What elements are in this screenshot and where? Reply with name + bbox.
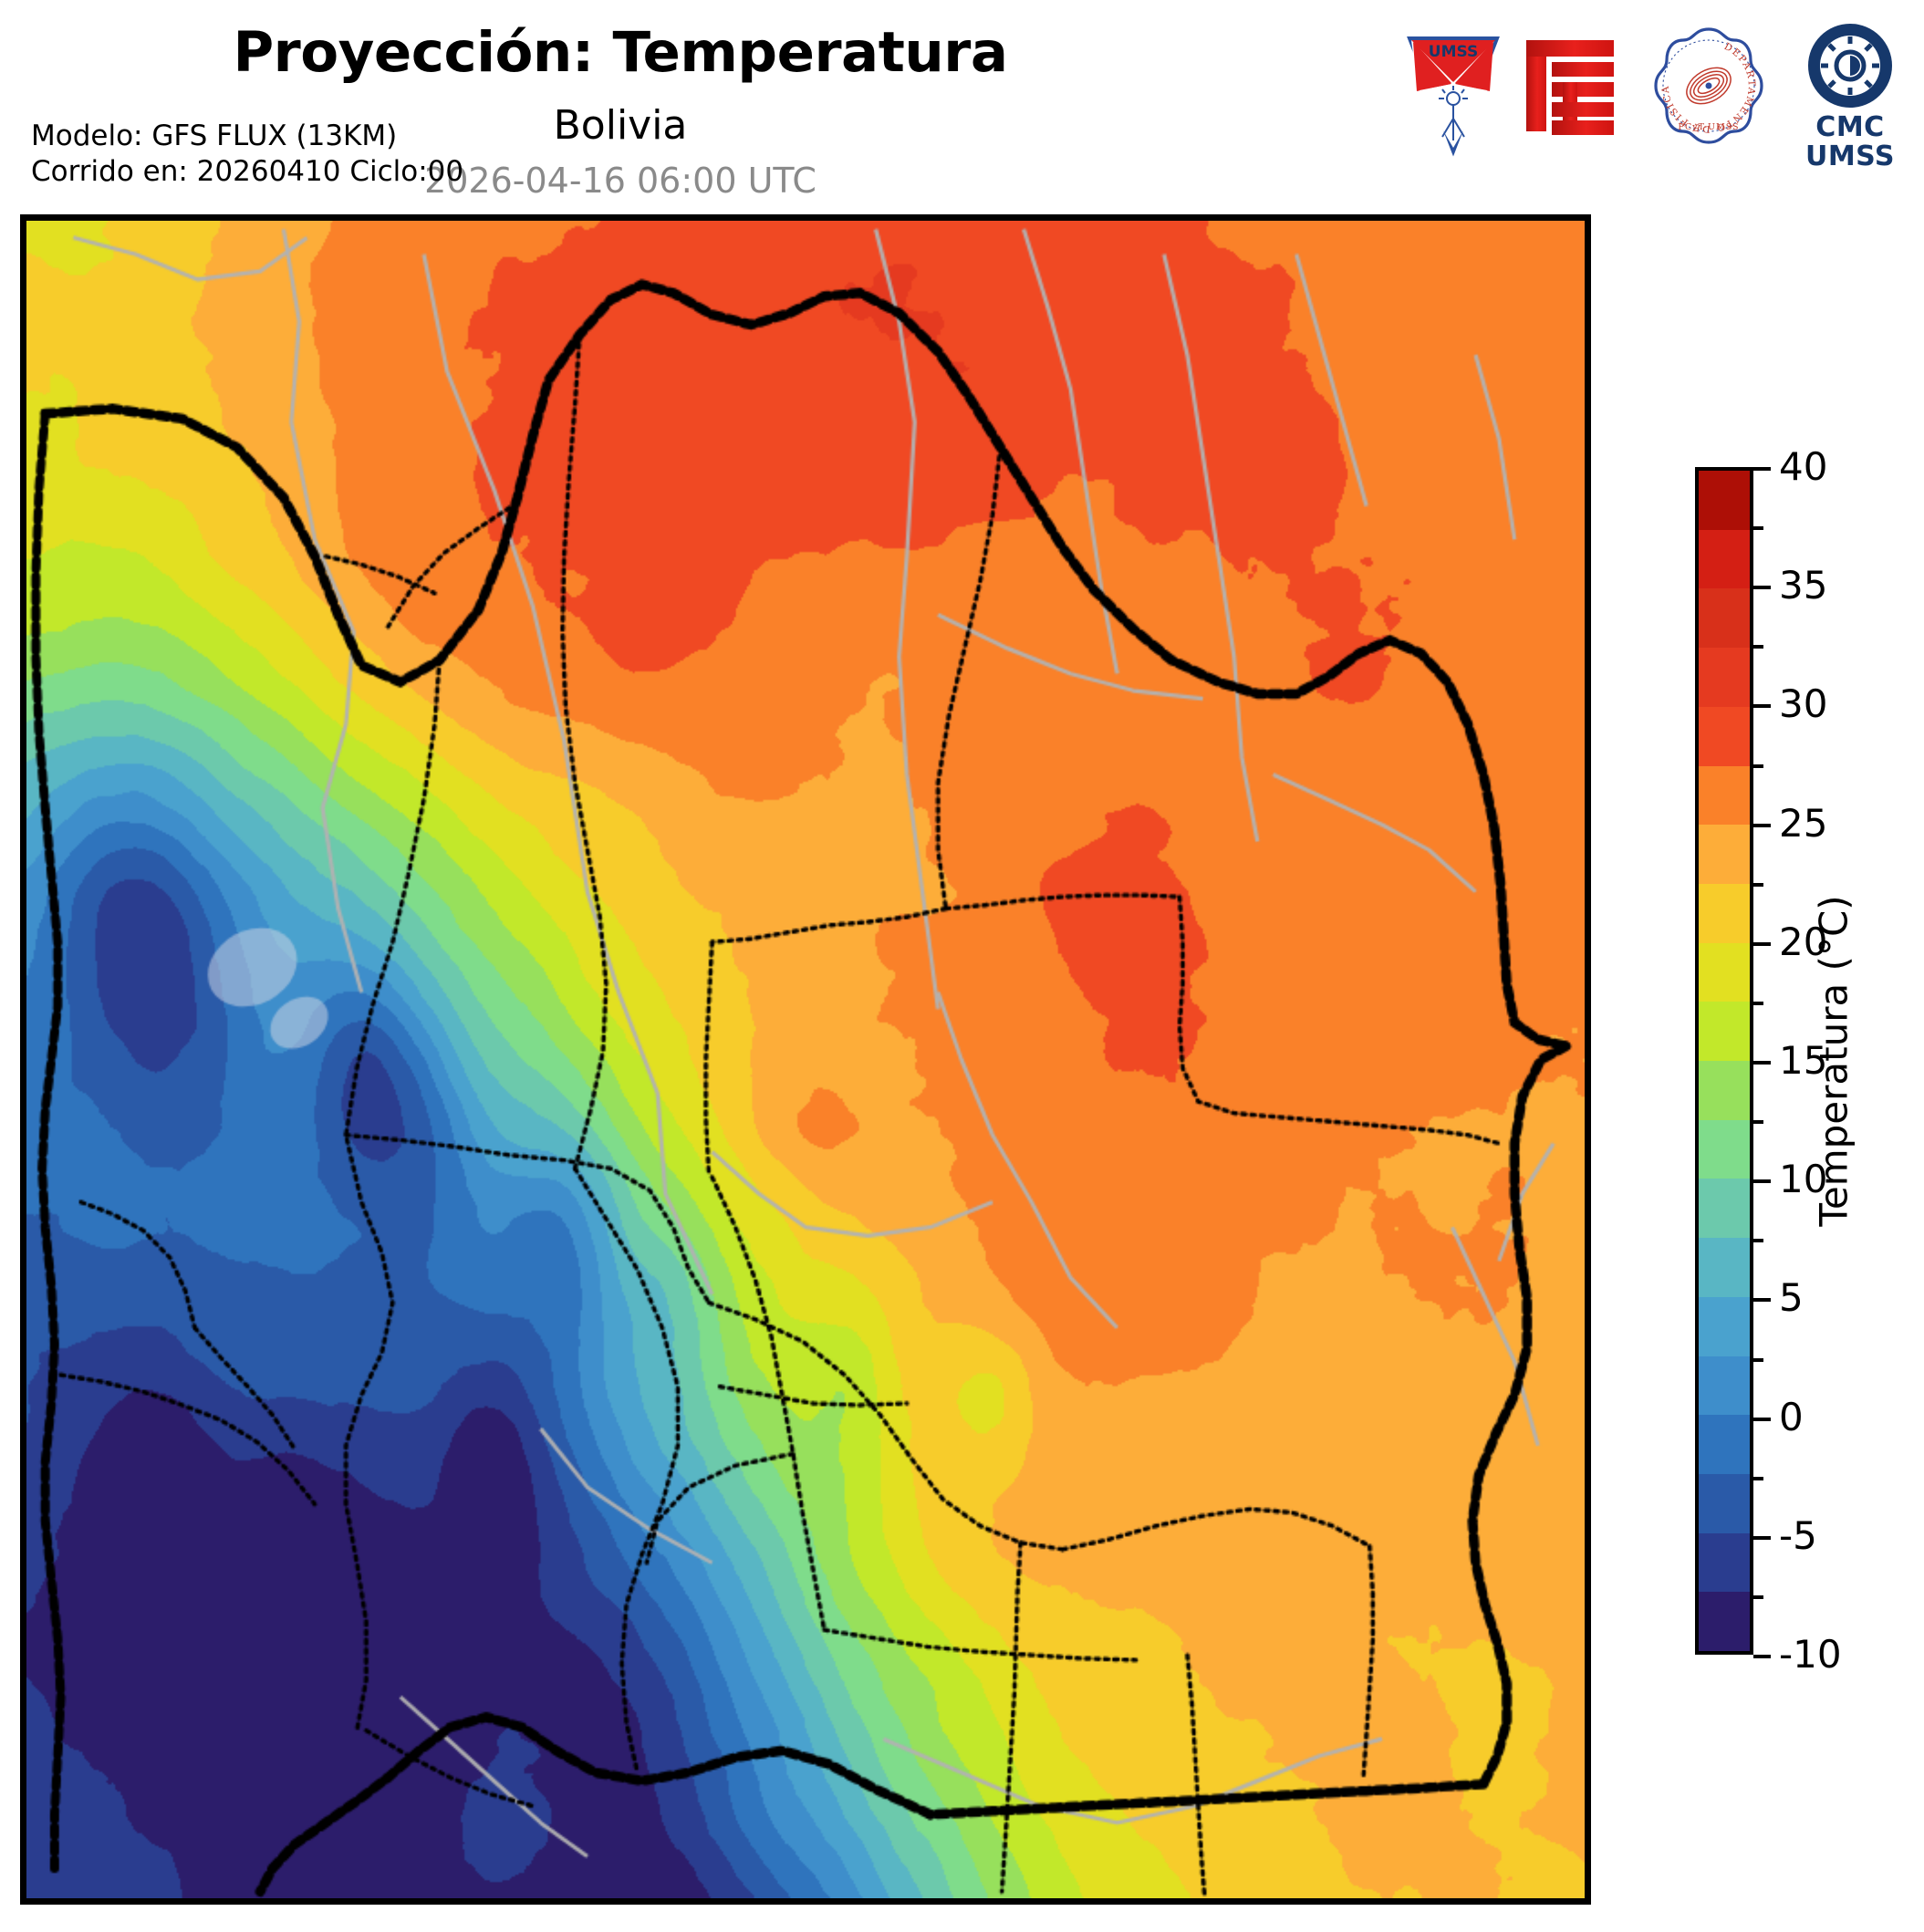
- colorbar-axis-label: Temperatura (°C): [1812, 895, 1856, 1226]
- cmc-logo-line1: CMC: [1791, 113, 1909, 142]
- colorbar-band-1: [1699, 530, 1750, 589]
- fcyt-logo: [1521, 33, 1630, 142]
- temperature-map-frame: [20, 214, 1591, 1905]
- svg-text:FCyT-UMSS: FCyT-UMSS: [1678, 122, 1739, 132]
- colorbar-gradient: [1695, 467, 1753, 1655]
- departamento-fisica-logo: DEPARTAMENTO DE FISICA FCyT-UMSS: [1647, 24, 1771, 148]
- colorbar-major-tick: [1753, 1179, 1771, 1183]
- model-info-block: Modelo: GFS FLUX (13KM) Corrido en: 2026…: [31, 119, 463, 190]
- colorbar-minor-tick: [1753, 1477, 1763, 1480]
- fcyt-logo-icon: [1521, 33, 1630, 142]
- colorbar-tick-label: 0: [1779, 1398, 1804, 1437]
- colorbar-minor-tick: [1753, 526, 1763, 530]
- colorbar-tick-label: 5: [1779, 1279, 1804, 1317]
- colorbar-tick-label: 35: [1779, 566, 1827, 605]
- colorbar-band-8: [1699, 943, 1750, 1002]
- colorbar-minor-tick: [1753, 1239, 1763, 1242]
- colorbar-band-0: [1699, 471, 1750, 530]
- colorbar-band-7: [1699, 884, 1750, 943]
- colorbar-major-tick: [1753, 1536, 1771, 1540]
- colorbar-tick-label: 25: [1779, 805, 1827, 843]
- umss-logo-icon: UMSS: [1399, 24, 1508, 161]
- colorbar-tick-label: 30: [1779, 685, 1827, 723]
- colorbar-band-19: [1699, 1592, 1750, 1651]
- umss-logo: UMSS: [1399, 24, 1508, 161]
- model-name-label: Modelo: GFS FLUX (13KM): [31, 119, 463, 154]
- logo-strip: UMSS: [1382, 7, 1924, 171]
- colorbar-band-13: [1699, 1238, 1750, 1297]
- colorbar-band-2: [1699, 588, 1750, 648]
- cmc-umss-logo: CMC UMSS: [1791, 18, 1909, 164]
- colorbar-major-tick: [1753, 586, 1771, 589]
- colorbar-minor-tick: [1753, 1358, 1763, 1362]
- model-run-label: Corrido en: 20260410 Ciclo:00: [31, 154, 463, 190]
- cmc-logo-line2: UMSS: [1791, 142, 1909, 171]
- temperature-contour-map: [26, 221, 1585, 1898]
- colorbar-minor-tick: [1753, 764, 1763, 768]
- colorbar-major-tick: [1753, 824, 1771, 827]
- colorbar-major-tick: [1753, 467, 1771, 471]
- colorbar-minor-tick: [1753, 1120, 1763, 1124]
- umss-logo-text: UMSS: [1429, 43, 1478, 61]
- cmc-sun-icon: [1803, 18, 1898, 113]
- colorbar-minor-tick: [1753, 1595, 1763, 1599]
- colorbar-group: 4035302520151050-5-10 Temperatura (°C): [1695, 467, 1914, 1655]
- colorbar-band-6: [1699, 825, 1750, 884]
- colorbar-band-12: [1699, 1179, 1750, 1238]
- colorbar-band-5: [1699, 766, 1750, 826]
- colorbar-minor-tick: [1753, 883, 1763, 887]
- colorbar-band-4: [1699, 707, 1750, 766]
- colorbar-major-tick: [1753, 704, 1771, 708]
- colorbar-major-tick: [1753, 1298, 1771, 1302]
- page-title: Proyección: Temperatura: [0, 20, 1241, 85]
- colorbar-band-15: [1699, 1356, 1750, 1416]
- colorbar-band-11: [1699, 1120, 1750, 1179]
- colorbar-major-tick: [1753, 1418, 1771, 1421]
- colorbar-major-tick: [1753, 1061, 1771, 1065]
- colorbar-tick-label: 40: [1779, 448, 1827, 486]
- colorbar-tick-label: -5: [1779, 1517, 1817, 1555]
- colorbar-band-16: [1699, 1415, 1750, 1474]
- colorbar-band-17: [1699, 1474, 1750, 1533]
- colorbar-band-18: [1699, 1533, 1750, 1593]
- colorbar-band-10: [1699, 1061, 1750, 1120]
- colorbar-tick-label: -10: [1779, 1636, 1842, 1674]
- colorbar-major-tick: [1753, 1655, 1771, 1658]
- colorbar-major-tick: [1753, 942, 1771, 946]
- departamento-fisica-seal-icon: DEPARTAMENTO DE FISICA FCyT-UMSS: [1647, 24, 1771, 148]
- colorbar-minor-tick: [1753, 645, 1763, 649]
- header: Proyección: Temperatura Bolivia 2026-04-…: [0, 0, 1924, 217]
- colorbar-band-14: [1699, 1297, 1750, 1356]
- colorbar-minor-tick: [1753, 1002, 1763, 1005]
- colorbar-band-9: [1699, 1002, 1750, 1061]
- colorbar-band-3: [1699, 648, 1750, 707]
